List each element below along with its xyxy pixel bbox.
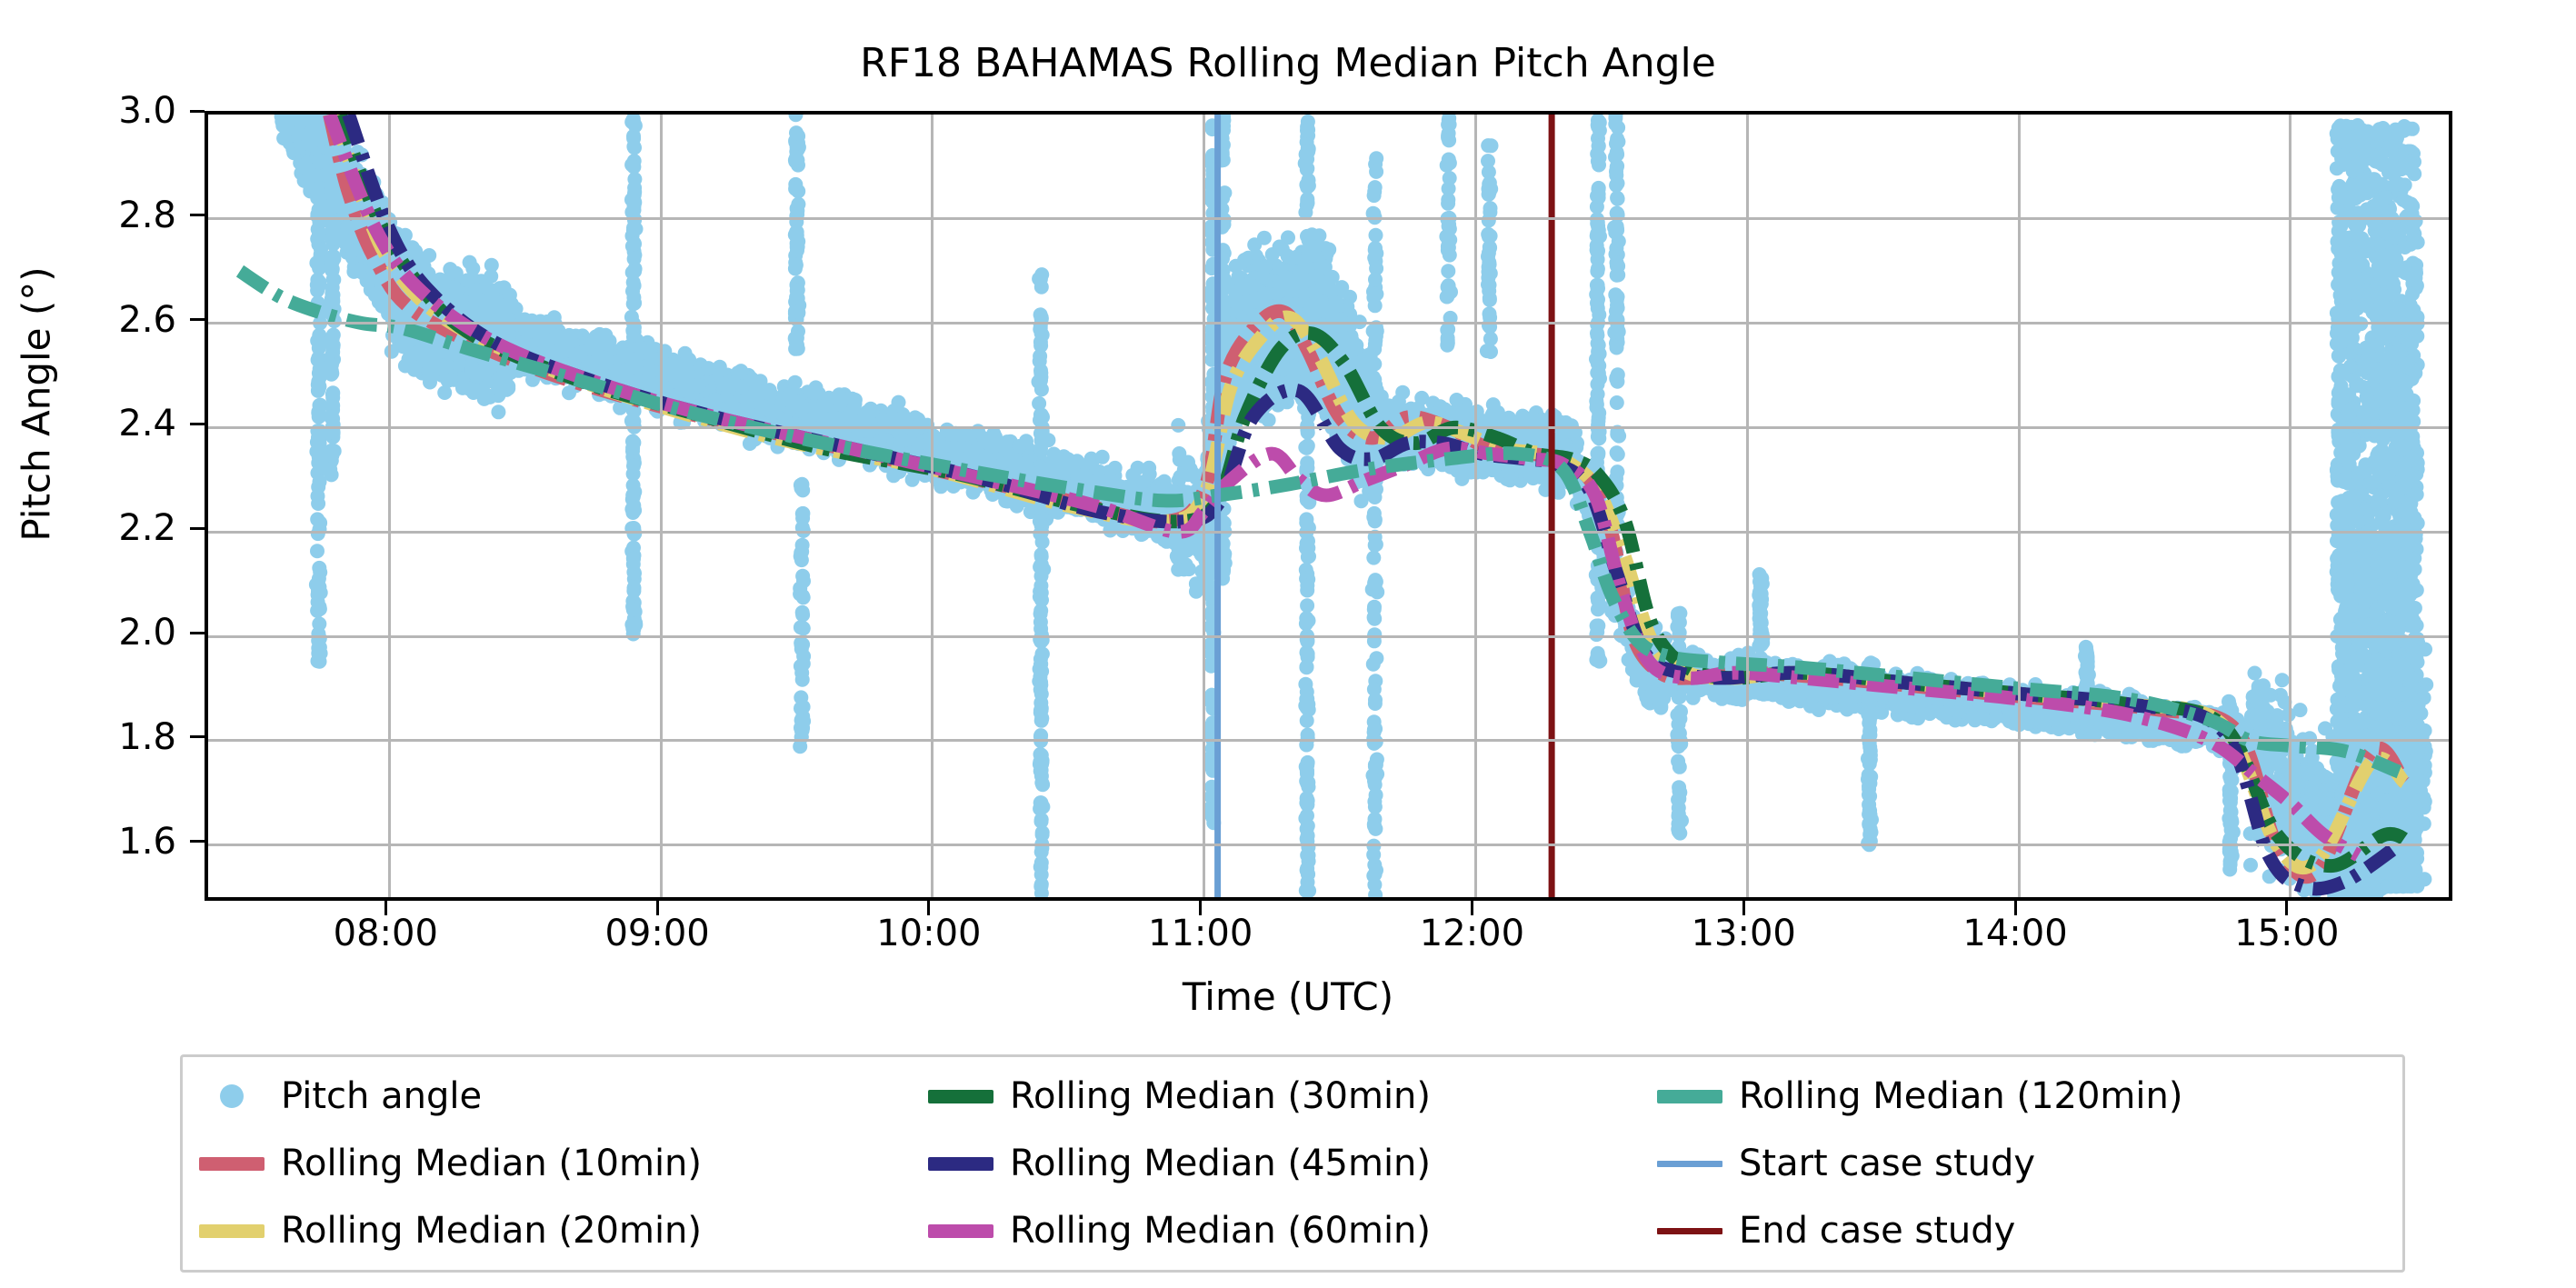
- legend-item-label: End case study: [1739, 1210, 2015, 1252]
- legend-item-median-45min[interactable]: Rolling Median (45min): [928, 1132, 1657, 1195]
- gridline-horizontal: [208, 739, 2449, 742]
- scatter-points: [274, 115, 2433, 897]
- gridline-vertical: [931, 115, 934, 897]
- gridline-vertical: [660, 115, 663, 897]
- gridline-horizontal: [208, 322, 2449, 324]
- chart-legend: Pitch angleRolling Median (30min)Rolling…: [180, 1054, 2405, 1273]
- legend-marker-dot-icon: [220, 1084, 244, 1108]
- y-tick-label: 1.6: [31, 821, 176, 863]
- legend-item-pitch-angle[interactable]: Pitch angle: [199, 1064, 928, 1128]
- y-tick-label: 2.6: [31, 299, 176, 341]
- gridline-vertical: [2289, 115, 2291, 897]
- legend-marker-line-icon: [1657, 1090, 1722, 1103]
- x-tick-mark: [927, 901, 930, 915]
- y-tick-mark: [190, 527, 205, 530]
- y-tick-mark: [190, 110, 205, 113]
- legend-item-label: Rolling Median (120min): [1739, 1075, 2182, 1117]
- legend-marker-line-icon: [1657, 1228, 1722, 1234]
- gridline-vertical: [1746, 115, 1749, 897]
- y-tick-mark: [190, 318, 205, 321]
- plot-canvas: [208, 115, 2449, 897]
- x-tick-mark: [656, 901, 659, 915]
- y-tick-mark: [190, 632, 205, 634]
- y-tick-mark: [190, 735, 205, 738]
- gridline-horizontal: [208, 635, 2449, 638]
- gridline-horizontal: [208, 217, 2449, 220]
- x-tick-label: 12:00: [1353, 913, 1590, 954]
- legend-item-label: Rolling Median (30min): [1010, 1075, 1431, 1117]
- y-tick-label: 2.4: [31, 403, 176, 444]
- legend-item-label: Rolling Median (45min): [1010, 1143, 1431, 1184]
- legend-item-label: Pitch angle: [281, 1075, 482, 1117]
- chart-figure: RF18 BAHAMAS Rolling Median Pitch Angle …: [0, 0, 2576, 1288]
- legend-item-label: Rolling Median (20min): [281, 1210, 702, 1252]
- x-tick-label: 10:00: [811, 913, 1047, 954]
- y-tick-label: 3.0: [31, 90, 176, 132]
- x-tick-label: 11:00: [1083, 913, 1319, 954]
- legend-marker-line-icon: [928, 1224, 993, 1238]
- legend-marker-line-icon: [199, 1157, 265, 1171]
- x-axis-label: Time (UTC): [0, 974, 2576, 1019]
- page-title: RF18 BAHAMAS Rolling Median Pitch Angle: [0, 40, 2576, 86]
- x-tick-mark: [2014, 901, 2017, 915]
- x-tick-label: 15:00: [2169, 913, 2405, 954]
- y-tick-label: 2.8: [31, 195, 176, 236]
- gridline-vertical: [1203, 115, 1205, 897]
- legend-item-median-30min[interactable]: Rolling Median (30min): [928, 1064, 1657, 1128]
- y-tick-label: 2.2: [31, 507, 176, 549]
- x-tick-label: 13:00: [1625, 913, 1862, 954]
- gridline-vertical: [388, 115, 391, 897]
- gridline-horizontal: [208, 426, 2449, 429]
- legend-item-median-60min[interactable]: Rolling Median (60min): [928, 1199, 1657, 1263]
- legend-item-label: Start case study: [1739, 1143, 2035, 1184]
- x-tick-label: 08:00: [267, 913, 504, 954]
- x-tick-mark: [1199, 901, 1202, 915]
- legend-item-label: Rolling Median (10min): [281, 1143, 702, 1184]
- series-layer: [208, 115, 2449, 897]
- legend-marker-line-icon: [199, 1224, 265, 1238]
- legend-item-start-case-study[interactable]: Start case study: [1657, 1132, 2386, 1195]
- x-tick-mark: [1471, 901, 1473, 915]
- gridline-vertical: [2018, 115, 2021, 897]
- y-tick-mark: [190, 214, 205, 216]
- legend-marker-line-icon: [928, 1157, 993, 1171]
- gridline-horizontal: [208, 531, 2449, 534]
- legend-item-label: Rolling Median (60min): [1010, 1210, 1431, 1252]
- y-tick-label: 2.0: [31, 612, 176, 654]
- gridline-vertical: [1474, 115, 1477, 897]
- y-tick-mark: [190, 840, 205, 843]
- gridline-horizontal: [208, 844, 2449, 846]
- legend-item-median-20min[interactable]: Rolling Median (20min): [199, 1199, 928, 1263]
- legend-item-median-10min[interactable]: Rolling Median (10min): [199, 1132, 928, 1195]
- legend-marker-line-icon: [1657, 1161, 1722, 1167]
- plot-area: [205, 111, 2452, 901]
- legend-item-median-120min[interactable]: Rolling Median (120min): [1657, 1064, 2386, 1128]
- y-tick-label: 1.8: [31, 716, 176, 758]
- x-tick-label: 09:00: [539, 913, 775, 954]
- legend-item-end-case-study[interactable]: End case study: [1657, 1199, 2386, 1263]
- legend-marker-line-icon: [928, 1090, 993, 1103]
- y-tick-mark: [190, 423, 205, 425]
- x-tick-mark: [1742, 901, 1745, 915]
- x-tick-mark: [2285, 901, 2288, 915]
- x-tick-mark: [384, 901, 387, 915]
- x-tick-label: 14:00: [1897, 913, 2133, 954]
